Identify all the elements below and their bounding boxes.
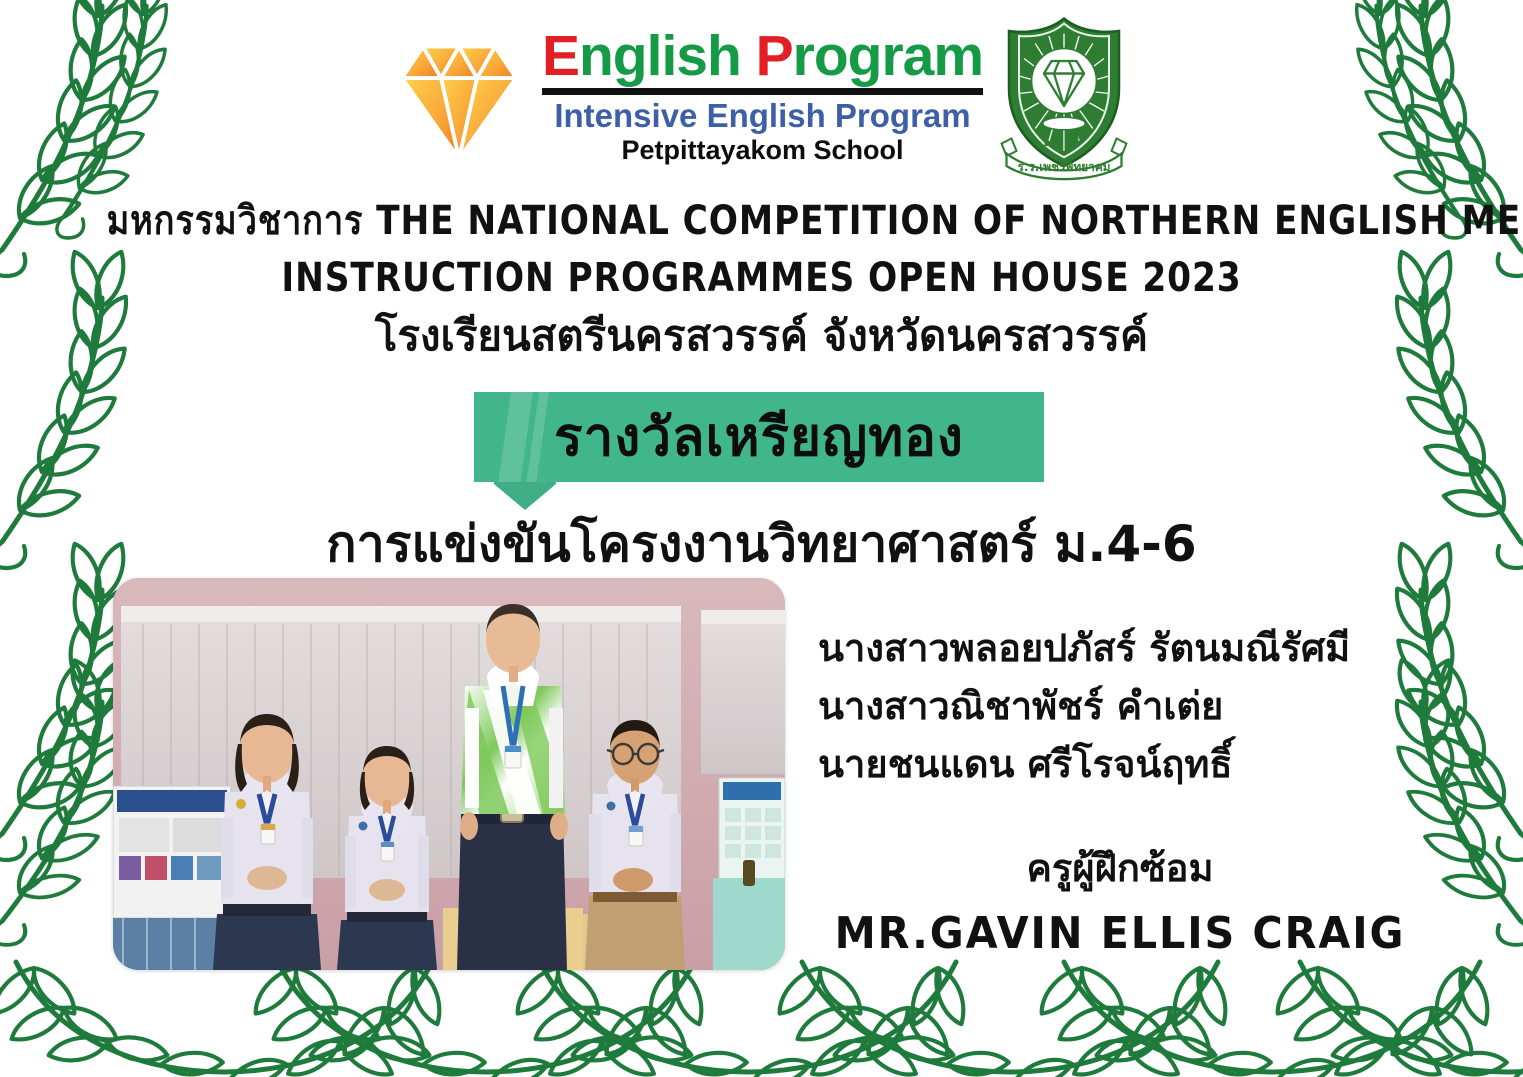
ep-title: English Program [542,27,983,85]
award-banner: รางวัลเหรียญทอง [474,392,1044,515]
award-category: การแข่งขันโครงงานวิทยาศาสตร์ ม.4-6 [0,505,1523,584]
header-logos: English Program Intensive English Progra… [0,8,1523,184]
ep-title-nglish: nglish [579,24,756,88]
event-title-line-2: INSTRUCTION PROGRAMMES OPEN HOUSE 2023 [107,250,1417,307]
student-name-2: นางสาวณิชาพัชร์ คำเต่ย [790,678,1450,736]
award-banner-label: รางวัลเหรียญทอง [474,392,1044,482]
event-venue: โรงเรียนสตรีนครสวรรค์ จังหวัดนครสวรรค์ [0,303,1523,369]
group-photo [113,578,785,970]
ep-divider [542,88,983,95]
event-title-line-1: มหกรรมวิชาการ THE NATIONAL COMPETITION O… [107,193,1417,250]
english-program-logo: English Program Intensive English Progra… [384,21,983,171]
diamond-icon [384,21,534,171]
participants-block: นางสาวพลอยปภัสร์ รัตนมณีรัศมี นางสาวณิชา… [790,620,1450,959]
crest-ribbon-text: ร.ร.เพชรพิทยาคม [1018,160,1111,174]
ep-school-name: Petpittayakom School [621,136,903,166]
school-crest-icon: ร.ร.เพชรพิทยาคม [989,11,1139,181]
ep-title-rogram: rogram [793,24,983,88]
certificate-poster: English Program Intensive English Progra… [0,0,1523,1077]
coach-name: MR.GAVIN ELLIS CRAIG [810,908,1430,959]
english-program-wordmark: English Program Intensive English Progra… [542,27,983,165]
student-name-1: นางสาวพลอยปภัสร์ รัตนมณีรัศมี [790,620,1450,678]
ep-title-p: P [756,24,793,88]
ep-subtitle: Intensive English Program [554,99,970,134]
ep-title-e: E [542,24,579,88]
student-name-3: นายชนแดน ศรีโรจน์ฤทธิ์ [790,736,1450,794]
event-title: มหกรรมวิชาการ THE NATIONAL COMPETITION O… [0,193,1523,307]
group-photo-image [113,578,785,970]
coach-label: ครูผู้ฝึกซ้อม [790,837,1450,898]
